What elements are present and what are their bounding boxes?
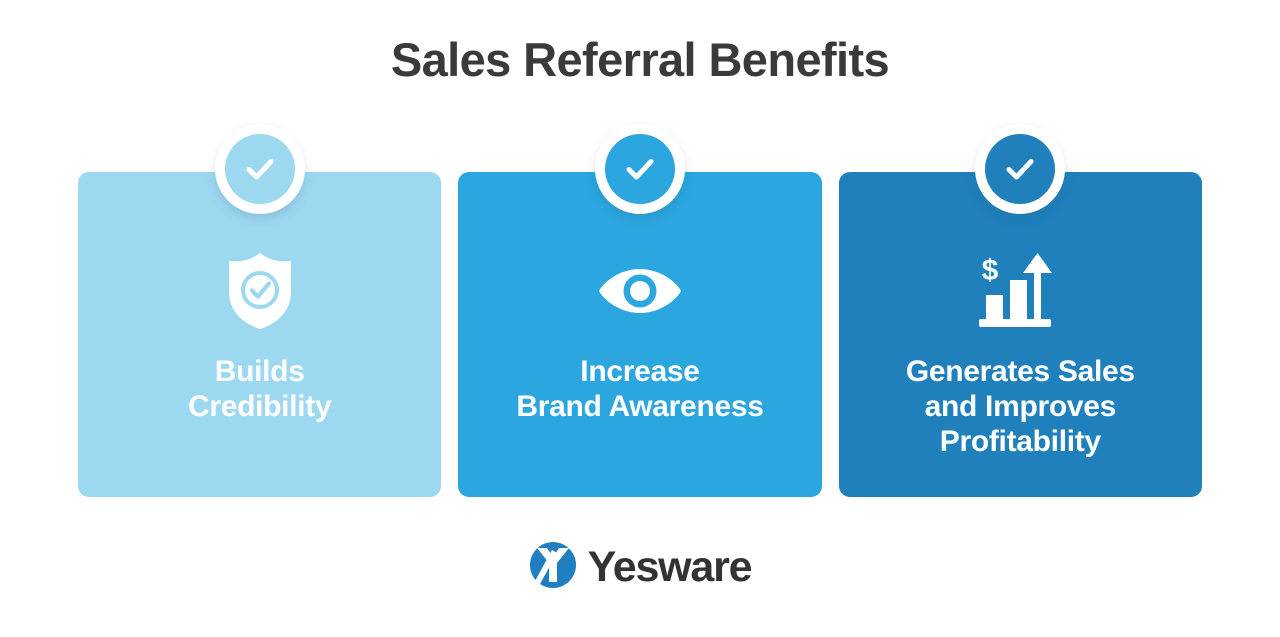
benefit-cards-row: Builds Credibility <box>78 172 1202 497</box>
card-label-line-2: and Improves <box>906 389 1135 424</box>
check-circle-icon <box>240 149 280 189</box>
shield-check-icon <box>226 250 294 332</box>
card-label: Generates Sales and Improves Profitabili… <box>896 354 1145 459</box>
benefit-card-increase-brand-awareness[interactable]: Increase Brand Awareness <box>458 172 821 497</box>
check-circle-icon <box>1000 149 1040 189</box>
check-circle-icon <box>620 149 660 189</box>
card-badge <box>215 124 305 214</box>
eye-icon <box>597 250 683 332</box>
brand-wordmark: Yesware <box>588 546 752 589</box>
card-badge <box>595 124 685 214</box>
card-label-line-2: Brand Awareness <box>516 389 763 424</box>
benefit-card-generates-sales[interactable]: $ Generates Sales and Improves Profitabi… <box>839 172 1202 497</box>
card-label: Increase Brand Awareness <box>506 354 773 424</box>
card-label-line-1: Generates Sales <box>906 354 1135 389</box>
svg-text:$: $ <box>982 254 999 287</box>
page-title: Sales Referral Benefits <box>0 34 1280 86</box>
card-badge <box>975 124 1065 214</box>
card-label-line-1: Builds <box>188 354 331 389</box>
card-label-line-3: Profitability <box>906 424 1135 459</box>
card-label: Builds Credibility <box>178 354 341 424</box>
yesware-y-logo-icon <box>529 541 577 594</box>
infographic-root: Sales Referral Benefits <box>0 0 1280 637</box>
brand-logo[interactable]: Yesware <box>0 541 1280 594</box>
bar-chart-dollar-growth-icon: $ <box>976 250 1064 332</box>
card-label-line-1: Increase <box>516 354 763 389</box>
card-label-line-2: Credibility <box>188 389 331 424</box>
benefit-card-builds-credibility[interactable]: Builds Credibility <box>78 172 441 497</box>
